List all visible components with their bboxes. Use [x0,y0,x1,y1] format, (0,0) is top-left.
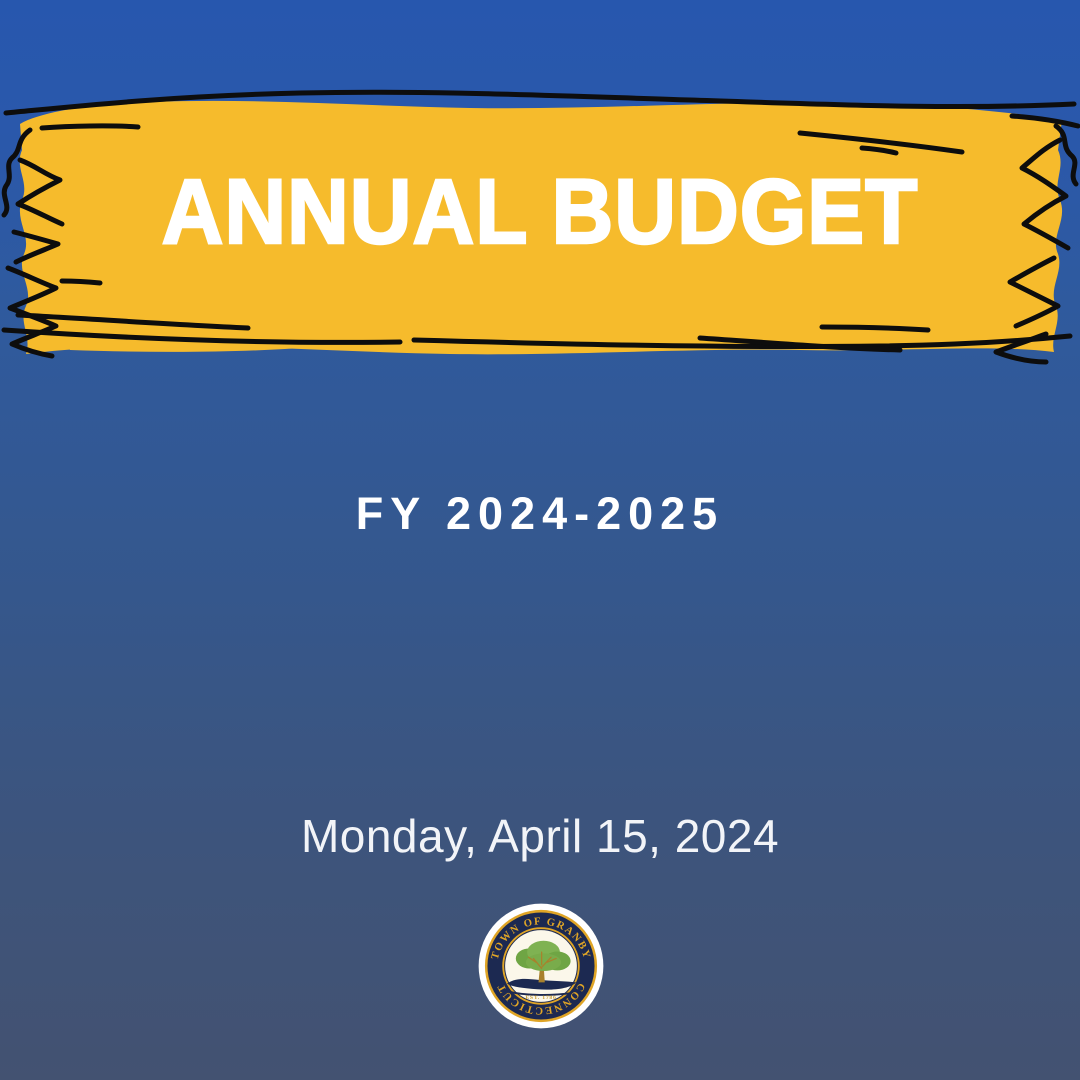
banner-flare-left [60,330,360,352]
seal-established-text: EST. 1786 [525,995,556,1001]
budget-announcement-poster: ANNUAL BUDGET FY 2024-2025 Monday, April… [0,0,1080,1080]
event-date-label: Monday, April 15, 2024 [0,806,1080,866]
fiscal-year-label: FY 2024-2025 [0,486,1080,542]
town-seal: TOWN OF GRANBY CONNECTICUT EST. 1786 [478,903,604,1029]
page-title: ANNUAL BUDGET [38,162,1042,262]
